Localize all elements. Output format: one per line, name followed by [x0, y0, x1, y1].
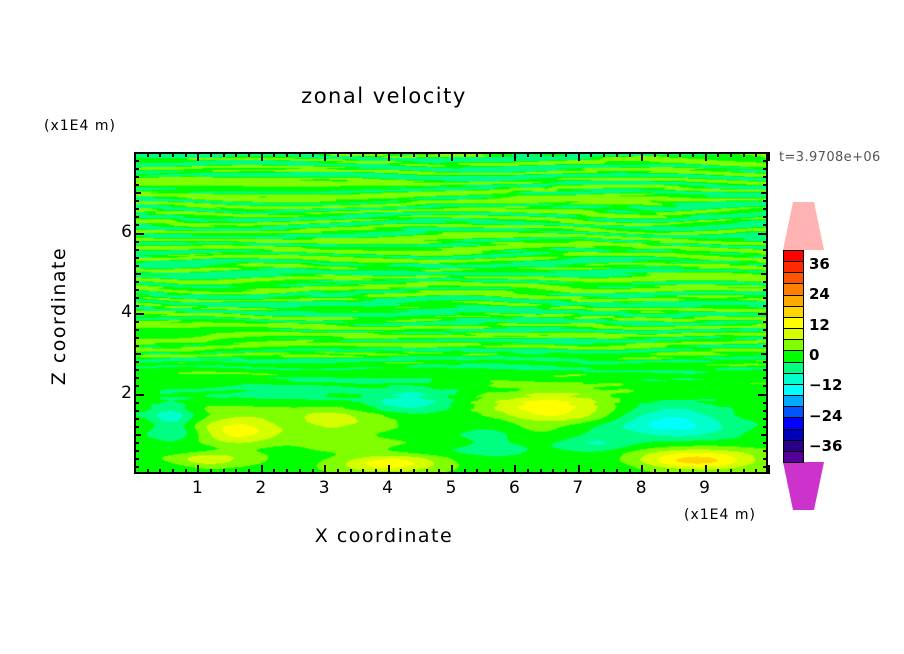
x-axis-minor-tick — [502, 469, 504, 474]
x-axis-major-tick — [451, 465, 453, 474]
y-axis-minor-tick — [134, 369, 139, 371]
y-axis-minor-tick — [134, 289, 139, 291]
x-axis-major-tick — [578, 465, 580, 474]
x-axis-minor-tick — [185, 469, 187, 474]
x-axis-top-tick — [248, 152, 250, 157]
x-axis-top-tick — [185, 152, 187, 157]
x-axis-top-tick — [350, 152, 352, 157]
x-axis-tick-label: 4 — [368, 478, 408, 498]
y-axis-right-tick — [763, 208, 768, 210]
x-axis-major-tick — [324, 465, 326, 474]
x-axis-top-tick — [172, 152, 174, 157]
x-axis-top-tick — [641, 152, 643, 161]
x-axis-minor-tick — [540, 469, 542, 474]
y-axis-right-tick — [763, 345, 768, 347]
x-axis-top-tick — [286, 152, 288, 157]
y-axis-minor-tick — [134, 434, 141, 436]
x-axis-top-tick — [502, 152, 504, 157]
x-axis-top-tick — [743, 152, 745, 157]
y-axis-right-tick — [763, 329, 768, 331]
y-axis-right-tick — [763, 176, 768, 178]
x-axis-minor-tick — [210, 469, 212, 474]
y-axis-minor-tick — [134, 241, 139, 243]
x-axis-minor-tick — [667, 469, 669, 474]
timestamp-annotation: t=3.9708e+06 — [779, 150, 881, 165]
x-axis-minor-tick — [552, 469, 554, 474]
x-axis-top-tick — [527, 152, 529, 157]
y-axis-minor-tick — [134, 257, 139, 259]
x-axis-minor-tick — [717, 469, 719, 474]
x-axis-top-tick — [755, 152, 757, 157]
colorbar-under-arrow — [783, 462, 824, 510]
x-axis-minor-tick — [235, 469, 237, 474]
x-axis-minor-tick — [159, 469, 161, 474]
contour-plot-area — [134, 152, 768, 474]
y-axis-right-tick — [763, 361, 768, 363]
x-axis-top-tick — [768, 152, 770, 161]
x-axis-minor-tick — [489, 469, 491, 474]
x-axis-minor-tick — [147, 469, 149, 474]
x-axis-top-tick — [426, 152, 428, 157]
x-axis-minor-tick — [375, 469, 377, 474]
velocity-field-canvas — [136, 154, 766, 472]
x-axis-minor-tick — [413, 469, 415, 474]
y-axis-title: Z coordinate — [48, 236, 70, 396]
x-axis-major-tick — [705, 465, 707, 474]
x-axis-top-tick — [235, 152, 237, 157]
y-axis-minor-tick — [134, 345, 139, 347]
x-axis-top-tick — [223, 152, 225, 157]
y-axis-minor-tick — [134, 458, 139, 460]
x-axis-top-tick — [451, 152, 453, 161]
y-axis-right-tick — [761, 273, 768, 275]
y-axis-right-tick — [763, 337, 768, 339]
x-axis-top-tick — [400, 152, 402, 157]
x-axis-minor-tick — [426, 469, 428, 474]
y-axis-minor-tick — [134, 418, 139, 420]
x-axis-minor-tick — [755, 469, 757, 474]
y-axis-right-tick — [758, 313, 768, 315]
x-axis-tick-label: 9 — [685, 478, 725, 498]
y-axis-right-tick — [763, 289, 768, 291]
y-axis-unit-label: (x1E4 m) — [44, 118, 116, 134]
x-axis-top-tick — [540, 152, 542, 157]
y-axis-minor-tick — [134, 224, 139, 226]
y-axis-right-tick — [763, 241, 768, 243]
colorbar-segment — [783, 451, 804, 463]
x-axis-minor-tick — [654, 469, 656, 474]
x-axis-top-tick — [476, 152, 478, 157]
x-axis-top-tick — [667, 152, 669, 157]
y-axis-right-tick — [763, 305, 768, 307]
x-axis-minor-tick — [350, 469, 352, 474]
y-axis-major-tick — [134, 313, 144, 315]
colorbar-tick-label: 0 — [809, 346, 819, 364]
y-axis-right-tick — [763, 369, 768, 371]
y-axis-tick-label: 2 — [92, 383, 132, 403]
y-axis-right-tick — [761, 192, 768, 194]
x-axis-top-tick — [717, 152, 719, 157]
y-axis-right-tick — [758, 394, 768, 396]
y-axis-minor-tick — [134, 192, 141, 194]
page-title: zonal velocity — [0, 84, 768, 108]
x-axis-minor-tick — [616, 469, 618, 474]
y-axis-minor-tick — [134, 281, 139, 283]
colorbar-tick-label: −12 — [809, 376, 842, 394]
colorbar-tick-label: 36 — [809, 255, 830, 273]
x-axis-minor-tick — [476, 469, 478, 474]
y-axis-minor-tick — [134, 450, 139, 452]
x-axis-minor-tick — [362, 469, 364, 474]
y-axis-right-tick — [763, 402, 768, 404]
x-axis-top-tick — [489, 152, 491, 157]
x-axis-minor-tick — [299, 469, 301, 474]
y-axis-minor-tick — [134, 361, 139, 363]
x-axis-top-tick — [388, 152, 390, 161]
x-axis-major-tick — [388, 465, 390, 474]
x-axis-unit-label: (x1E4 m) — [684, 507, 756, 523]
y-axis-minor-tick — [134, 385, 139, 387]
y-axis-minor-tick — [134, 176, 139, 178]
x-axis-minor-tick — [527, 469, 529, 474]
y-axis-minor-tick — [134, 273, 141, 275]
y-axis-minor-tick — [134, 402, 139, 404]
x-axis-tick-label: 2 — [241, 478, 281, 498]
colorbar-tick-label: 12 — [809, 316, 830, 334]
y-axis-right-tick — [763, 216, 768, 218]
y-axis-minor-tick — [134, 160, 139, 162]
y-axis-minor-tick — [134, 297, 139, 299]
x-axis-top-tick — [565, 152, 567, 157]
x-axis-minor-tick — [743, 469, 745, 474]
y-axis-minor-tick — [134, 168, 139, 170]
y-axis-tick-label: 6 — [92, 222, 132, 242]
y-axis-minor-tick — [134, 426, 139, 428]
y-axis-minor-tick — [134, 377, 139, 379]
x-axis-top-tick — [375, 152, 377, 157]
x-axis-minor-tick — [679, 469, 681, 474]
x-axis-top-tick — [578, 152, 580, 161]
y-axis-right-tick — [761, 353, 768, 355]
y-axis-right-tick — [763, 168, 768, 170]
x-axis-minor-tick — [248, 469, 250, 474]
x-axis-top-tick — [362, 152, 364, 157]
y-axis-right-tick — [763, 458, 768, 460]
y-axis-right-tick — [763, 200, 768, 202]
x-axis-top-tick — [552, 152, 554, 157]
x-axis-minor-tick — [286, 469, 288, 474]
y-axis-minor-tick — [134, 466, 139, 468]
x-axis-top-tick — [312, 152, 314, 157]
x-axis-top-tick — [159, 152, 161, 157]
y-axis-right-tick — [763, 418, 768, 420]
x-axis-minor-tick — [692, 469, 694, 474]
x-axis-minor-tick — [273, 469, 275, 474]
x-axis-top-tick — [514, 152, 516, 161]
x-axis-major-tick — [514, 465, 516, 474]
x-axis-top-tick — [413, 152, 415, 157]
y-axis-right-tick — [763, 410, 768, 412]
y-axis-minor-tick — [134, 184, 139, 186]
y-axis-major-tick — [134, 233, 144, 235]
y-axis-minor-tick — [134, 337, 139, 339]
x-axis-minor-tick — [629, 469, 631, 474]
x-axis-top-tick — [197, 152, 199, 161]
y-axis-minor-tick — [134, 321, 139, 323]
y-axis-minor-tick — [134, 200, 139, 202]
x-axis-tick-label: 7 — [558, 478, 598, 498]
y-axis-tick-label: 4 — [92, 302, 132, 322]
x-axis-major-tick — [641, 465, 643, 474]
x-axis-top-tick — [337, 152, 339, 157]
x-axis-top-tick — [438, 152, 440, 157]
y-axis-right-tick — [761, 434, 768, 436]
x-axis-top-tick — [616, 152, 618, 157]
y-axis-right-tick — [763, 297, 768, 299]
x-axis-tick-label: 6 — [494, 478, 534, 498]
x-axis-title: X coordinate — [0, 525, 768, 547]
x-axis-top-tick — [692, 152, 694, 157]
y-axis-right-tick — [763, 160, 768, 162]
x-axis-minor-tick — [565, 469, 567, 474]
y-axis-right-tick — [763, 184, 768, 186]
y-axis-minor-tick — [134, 208, 139, 210]
x-axis-major-tick — [197, 465, 199, 474]
x-axis-minor-tick — [590, 469, 592, 474]
y-axis-right-tick — [763, 450, 768, 452]
colorbar-over-arrow — [783, 202, 824, 250]
x-axis-tick-label: 1 — [177, 478, 217, 498]
figure-canvas: zonal velocity (x1E4 m) t=3.9708e+06 X c… — [0, 0, 904, 654]
y-axis-major-tick — [134, 394, 144, 396]
x-axis-tick-label: 5 — [431, 478, 471, 498]
x-axis-minor-tick — [603, 469, 605, 474]
y-axis-right-tick — [763, 281, 768, 283]
x-axis-top-tick — [679, 152, 681, 157]
x-axis-top-tick — [654, 152, 656, 157]
x-axis-top-tick — [590, 152, 592, 157]
y-axis-right-tick — [763, 249, 768, 251]
x-axis-minor-tick — [312, 469, 314, 474]
x-axis-tick-label: 8 — [621, 478, 661, 498]
y-axis-right-tick — [763, 385, 768, 387]
y-axis-minor-tick — [134, 216, 139, 218]
x-axis-minor-tick — [337, 469, 339, 474]
y-axis-minor-tick — [134, 353, 141, 355]
x-axis-top-tick — [299, 152, 301, 157]
y-axis-right-tick — [763, 377, 768, 379]
y-axis-minor-tick — [134, 329, 139, 331]
x-axis-tick-label: 3 — [304, 478, 344, 498]
y-axis-right-tick — [763, 265, 768, 267]
x-axis-minor-tick — [172, 469, 174, 474]
y-axis-right-tick — [763, 426, 768, 428]
colorbar-tick-label: 24 — [809, 285, 830, 303]
y-axis-minor-tick — [134, 305, 139, 307]
colorbar-tick-label: −36 — [809, 437, 842, 455]
x-axis-top-tick — [603, 152, 605, 157]
x-axis-minor-tick — [223, 469, 225, 474]
y-axis-right-tick — [763, 466, 768, 468]
x-axis-minor-tick — [438, 469, 440, 474]
x-axis-top-tick — [324, 152, 326, 161]
x-axis-top-tick — [273, 152, 275, 157]
x-axis-top-tick — [705, 152, 707, 161]
colorbar[interactable]: 3624120−12−24−36 — [783, 250, 804, 462]
y-axis-right-tick — [763, 257, 768, 259]
y-axis-minor-tick — [134, 410, 139, 412]
y-axis-minor-tick — [134, 265, 139, 267]
x-axis-minor-tick — [464, 469, 466, 474]
x-axis-top-tick — [147, 152, 149, 157]
x-axis-top-tick — [629, 152, 631, 157]
y-axis-right-tick — [763, 321, 768, 323]
y-axis-right-tick — [763, 224, 768, 226]
y-axis-minor-tick — [134, 442, 139, 444]
x-axis-major-tick — [261, 465, 263, 474]
y-axis-right-tick — [758, 233, 768, 235]
x-axis-minor-tick — [400, 469, 402, 474]
x-axis-top-tick — [210, 152, 212, 157]
x-axis-minor-tick — [730, 469, 732, 474]
x-axis-major-tick — [768, 465, 770, 474]
colorbar-tick-label: −24 — [809, 407, 842, 425]
x-axis-top-tick — [261, 152, 263, 161]
x-axis-top-tick — [464, 152, 466, 157]
y-axis-minor-tick — [134, 249, 139, 251]
x-axis-top-tick — [730, 152, 732, 157]
y-axis-right-tick — [763, 442, 768, 444]
